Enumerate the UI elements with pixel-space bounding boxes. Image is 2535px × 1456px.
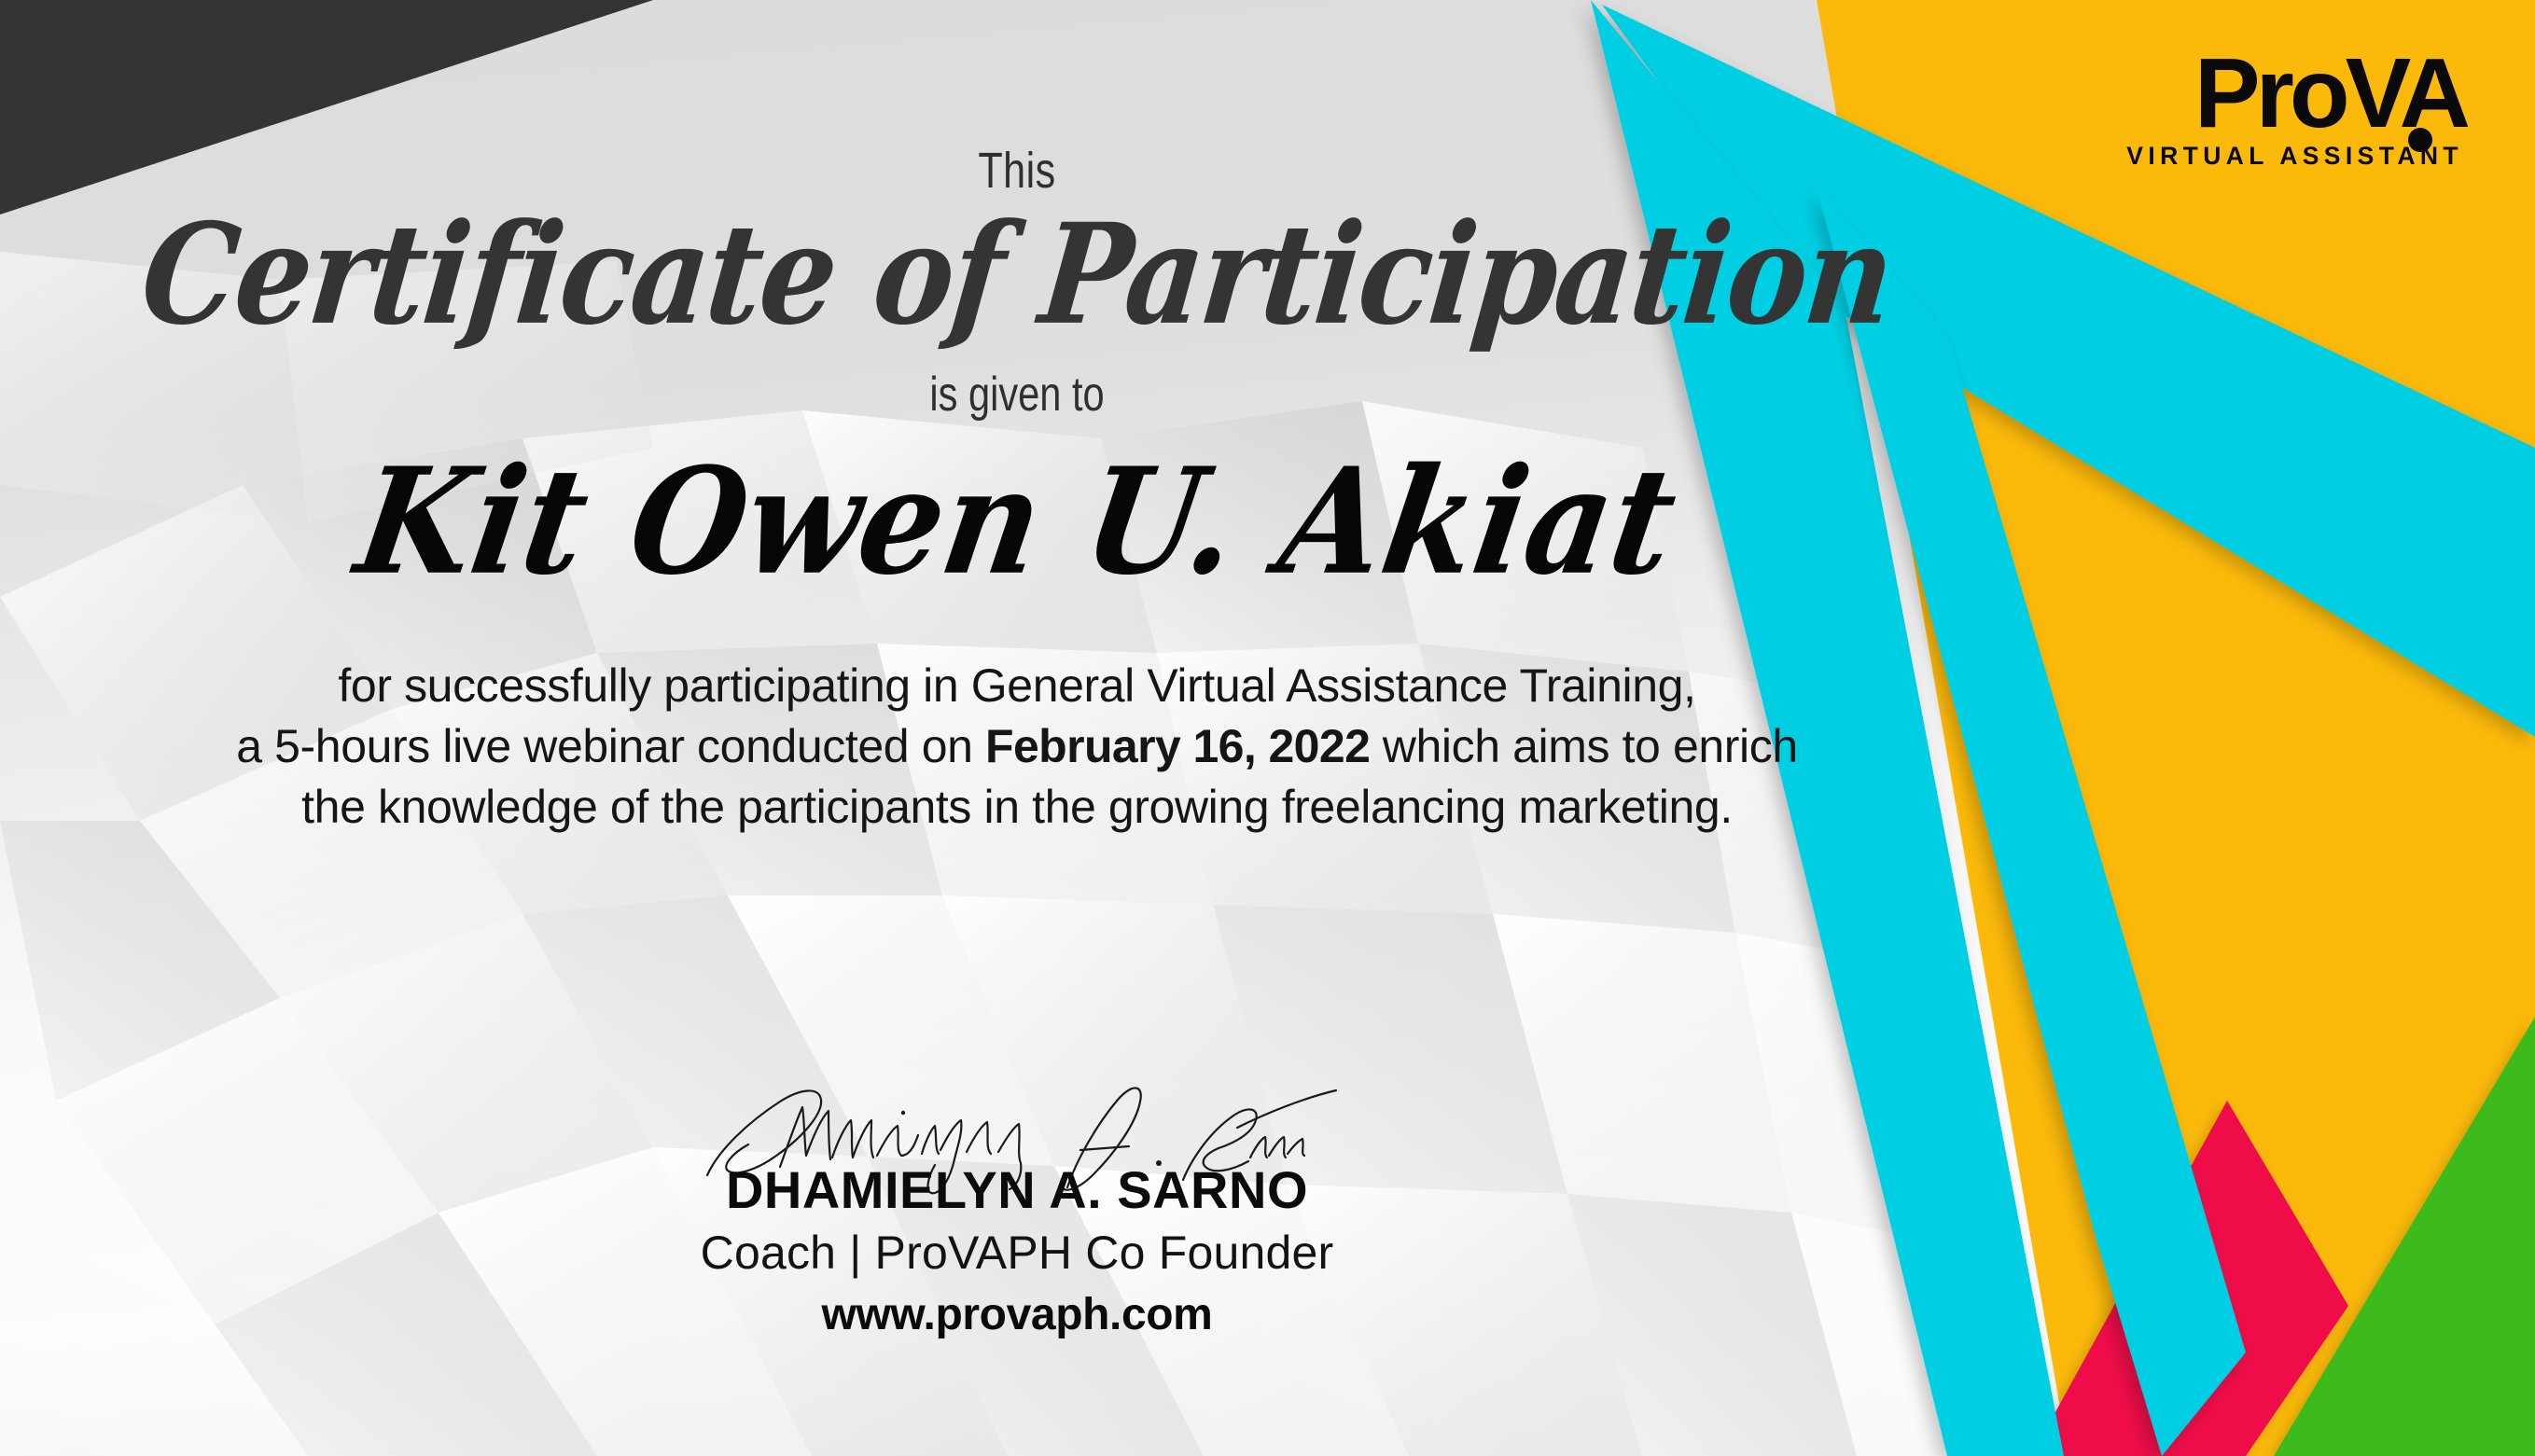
certificate-title: Certificate of Participation [0, 199, 2042, 354]
description-line-3: the knowledge of the participants in the… [0, 777, 2034, 838]
given-to-label: is given to [203, 367, 1831, 423]
description-line-2-after: which aims to enrich [1370, 720, 1797, 772]
recipient-name: Kit Owen U. Akiat [0, 442, 2047, 603]
description-line-2: a 5-hours live webinar conducted on Febr… [0, 716, 2034, 777]
signature-block: DHAMIELYN A. SARNO Coach | ProVAPH Co Fo… [0, 1077, 2034, 1340]
logo-a-dot-icon [2408, 128, 2432, 152]
certificate-description: for successfully participating in Genera… [0, 656, 2034, 838]
description-line-2-before: a 5-hours live webinar conducted on [236, 720, 985, 772]
signatory-name: DHAMIELYN A. SARNO [0, 1159, 2034, 1220]
provaph-logo: ProVA VIRTUAL ASSISTANT [2126, 49, 2466, 171]
website-url[interactable]: www.provaph.com [0, 1289, 2034, 1340]
intro-text: This [203, 142, 1831, 200]
logo-wordmark: ProVA [2126, 49, 2466, 140]
webinar-date: February 16, 2022 [985, 720, 1370, 772]
certificate-body: This Certificate of Participation is giv… [0, 0, 2034, 838]
signatory-role: Coach | ProVAPH Co Founder [0, 1226, 2034, 1280]
description-line-1: for successfully participating in Genera… [0, 656, 2034, 716]
certificate-canvas: ProVA VIRTUAL ASSISTANT This Certificate… [0, 0, 2535, 1456]
